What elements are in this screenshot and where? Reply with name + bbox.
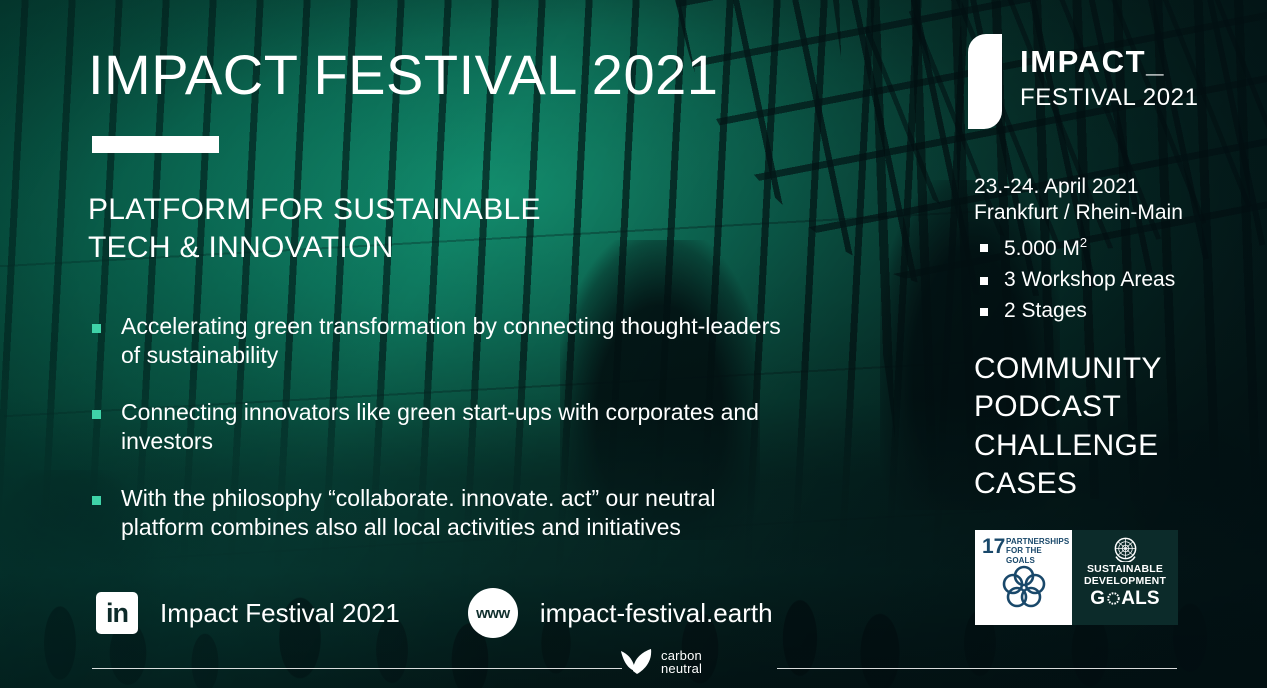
leaf-icon bbox=[620, 648, 654, 676]
list-item: 5.000 M2 bbox=[974, 235, 1183, 261]
fact-value: 3 Workshop Areas bbox=[1004, 268, 1175, 291]
carbon-line-1: carbon bbox=[661, 649, 702, 662]
sdg-color-wheel-icon bbox=[1106, 591, 1121, 606]
website-label[interactable]: impact-festival.earth bbox=[540, 598, 773, 629]
bullet-text: Accelerating green transformation by con… bbox=[121, 312, 792, 370]
event-location: Frankfurt / Rhein-Main bbox=[974, 200, 1183, 226]
page-subtitle: PLATFORM FOR SUSTAINABLE TECH & INNOVATI… bbox=[88, 191, 541, 267]
brand-logo: IMPACT_ FESTIVAL 2021 bbox=[968, 34, 1199, 129]
poster-slide: IMPACT FESTIVAL 2021 PLATFORM FOR SUSTAI… bbox=[0, 0, 1267, 688]
subtitle-line-2: TECH & INNOVATION bbox=[88, 229, 541, 267]
sdg-word-sustainable: SUSTAINABLE bbox=[1084, 564, 1166, 576]
list-item: With the philosophy “collaborate. innova… bbox=[92, 484, 792, 542]
sdg-goals-prefix: G bbox=[1090, 589, 1105, 608]
sdg-number: 17 bbox=[982, 536, 1005, 557]
bullet-square-icon bbox=[92, 410, 101, 419]
fact-value: 2 Stages bbox=[1004, 299, 1087, 322]
fact-superscript: 2 bbox=[1080, 235, 1087, 250]
sdg-word-goals: G ALS bbox=[1084, 589, 1166, 608]
pillar-community: COMMUNITY bbox=[974, 350, 1162, 388]
linkedin-mark: in bbox=[106, 600, 128, 627]
event-dates: 23.-24. April 2021 bbox=[974, 174, 1183, 200]
list-item: 3 Workshop Areas bbox=[974, 268, 1183, 292]
footer-divider-left bbox=[92, 668, 622, 669]
pillar-challenge: CHALLENGE bbox=[974, 427, 1162, 465]
list-item: 2 Stages bbox=[974, 299, 1183, 323]
value-bullet-list: Accelerating green transformation by con… bbox=[92, 312, 792, 542]
bullet-square-icon bbox=[980, 277, 988, 285]
page-title: IMPACT FESTIVAL 2021 bbox=[88, 46, 718, 105]
un-emblem-icon bbox=[1112, 535, 1139, 562]
contact-links: in Impact Festival 2021 www impact-festi… bbox=[96, 588, 773, 638]
logo-wordmark: IMPACT_ FESTIVAL 2021 bbox=[1020, 34, 1199, 110]
sdg-partnership-icon bbox=[999, 562, 1049, 612]
sdg-word-development: DEVELOPMENT bbox=[1084, 576, 1166, 588]
fact-value: 5.000 M bbox=[1004, 237, 1080, 260]
website-mark: www bbox=[476, 605, 510, 622]
bullet-text: Connecting innovators like green start-u… bbox=[121, 398, 792, 456]
bullet-square-icon bbox=[92, 496, 101, 505]
logo-name: IMPACT_ bbox=[1020, 46, 1199, 77]
logo-mark-icon bbox=[968, 34, 1002, 129]
list-item: Accelerating green transformation by con… bbox=[92, 312, 792, 370]
sdg-goal-tile: 17 PARTNERSHIPS FOR THE GOALS bbox=[975, 530, 1072, 625]
programme-pillars: COMMUNITY PODCAST CHALLENGE CASES bbox=[974, 350, 1162, 504]
title-underline-rule bbox=[92, 136, 219, 153]
footer-divider-right bbox=[777, 668, 1177, 669]
event-facts-list: 5.000 M2 3 Workshop Areas 2 Stages bbox=[974, 235, 1183, 323]
carbon-neutral-badge: carbon neutral bbox=[620, 648, 702, 676]
sdg-badge: 17 PARTNERSHIPS FOR THE GOALS bbox=[975, 530, 1178, 625]
pillar-podcast: PODCAST bbox=[974, 388, 1162, 426]
linkedin-label[interactable]: Impact Festival 2021 bbox=[160, 598, 400, 629]
logo-subtitle: FESTIVAL 2021 bbox=[1020, 86, 1199, 110]
poster-content: IMPACT FESTIVAL 2021 PLATFORM FOR SUSTAI… bbox=[0, 0, 1267, 688]
bullet-square-icon bbox=[980, 244, 988, 252]
carbon-neutral-text: carbon neutral bbox=[661, 649, 702, 676]
subtitle-line-1: PLATFORM FOR SUSTAINABLE bbox=[88, 191, 541, 229]
bullet-text: With the philosophy “collaborate. innova… bbox=[121, 484, 792, 542]
sdg-wordmark-tile: SUSTAINABLE DEVELOPMENT G ALS bbox=[1072, 530, 1178, 625]
list-item: Connecting innovators like green start-u… bbox=[92, 398, 792, 456]
linkedin-icon[interactable]: in bbox=[96, 592, 138, 634]
sdg-wordmark: SUSTAINABLE DEVELOPMENT G ALS bbox=[1084, 564, 1166, 608]
bullet-square-icon bbox=[980, 308, 988, 316]
sdg-goals-suffix: ALS bbox=[1121, 589, 1160, 608]
event-meta: 23.-24. April 2021 Frankfurt / Rhein-Mai… bbox=[974, 174, 1183, 330]
bullet-square-icon bbox=[92, 324, 101, 333]
website-icon[interactable]: www bbox=[468, 588, 518, 638]
carbon-line-2: neutral bbox=[661, 662, 702, 675]
pillar-cases: CASES bbox=[974, 465, 1162, 503]
